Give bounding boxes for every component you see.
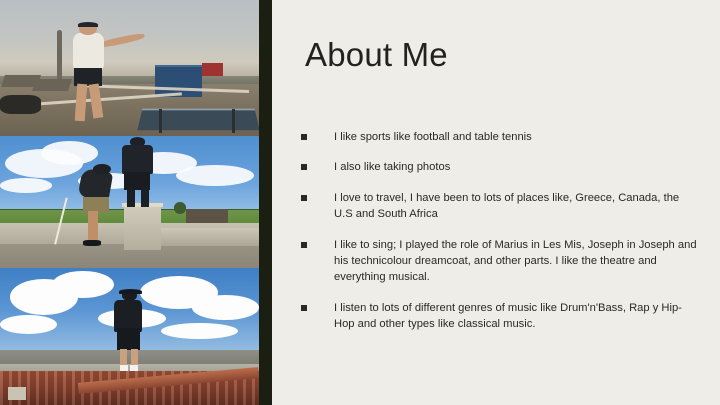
list-item: I love to travel, I have been to lots of… xyxy=(298,190,698,223)
bullet-square-icon xyxy=(301,164,307,170)
bullet-square-icon xyxy=(301,195,307,201)
photo2-right-wall xyxy=(161,228,259,245)
list-item: I like to sing; I played the role of Mar… xyxy=(298,237,698,286)
photo1-player-cap xyxy=(78,22,99,27)
photo3-person-leg-left xyxy=(120,349,127,367)
bullet-square-icon xyxy=(301,305,307,311)
photo2-standing-person-leg-left xyxy=(127,189,135,207)
bullet-list: I like sports like football and table te… xyxy=(298,129,698,333)
slide: About Me I like sports like football and… xyxy=(0,0,720,405)
list-item: I listen to lots of different genres of … xyxy=(298,300,698,333)
photo1-foreground-shadow xyxy=(0,95,41,114)
photo1-table-legs xyxy=(155,109,238,133)
photo1-red-object xyxy=(202,63,223,77)
photo2-cloud xyxy=(0,178,52,193)
list-item: I like sports like football and table te… xyxy=(298,129,698,145)
photo-tiled-roof xyxy=(0,268,259,405)
content-panel: About Me I like sports like football and… xyxy=(272,0,720,405)
divider-strip xyxy=(259,0,272,405)
photo1-player-torso xyxy=(73,33,104,71)
photo3-person-shorts xyxy=(117,328,140,350)
photo-column xyxy=(0,0,259,405)
photo2-standing-person-body xyxy=(122,145,153,174)
photo-table-tennis xyxy=(0,0,259,136)
list-item-text: I listen to lots of different genres of … xyxy=(334,300,698,333)
photo3-person-leg-right xyxy=(131,349,138,367)
photo3-cloud xyxy=(52,271,114,298)
photo2-bending-person-shorts xyxy=(83,197,109,213)
photo3-cloud xyxy=(192,295,259,320)
photo3-cloud xyxy=(0,315,57,334)
bullet-square-icon xyxy=(301,242,307,248)
list-item: I also like taking photos xyxy=(298,159,698,175)
list-item-text: I like to sing; I played the role of Mar… xyxy=(334,237,698,286)
list-item-text: I love to travel, I have been to lots of… xyxy=(334,190,698,223)
photo2-bending-person-leg xyxy=(88,211,98,243)
photo1-lounger-right xyxy=(32,79,72,91)
list-item-text: I also like taking photos xyxy=(334,159,698,175)
photo2-tree xyxy=(174,202,187,214)
photo2-standing-person-leg-right xyxy=(141,189,149,207)
photo1-umbrella xyxy=(57,30,62,79)
photo3-chimney xyxy=(8,387,26,399)
photo-rooftop-pair xyxy=(0,136,259,268)
photo3-person-cap xyxy=(119,289,142,294)
photo2-pillar xyxy=(124,205,160,250)
photo2-bending-person-shoe xyxy=(83,240,101,245)
bullet-square-icon xyxy=(301,134,307,140)
photo2-cloud xyxy=(176,165,254,186)
list-item-text: I like sports like football and table te… xyxy=(334,129,698,145)
page-title: About Me xyxy=(305,36,448,74)
photo2-standing-person-shorts xyxy=(124,172,150,190)
